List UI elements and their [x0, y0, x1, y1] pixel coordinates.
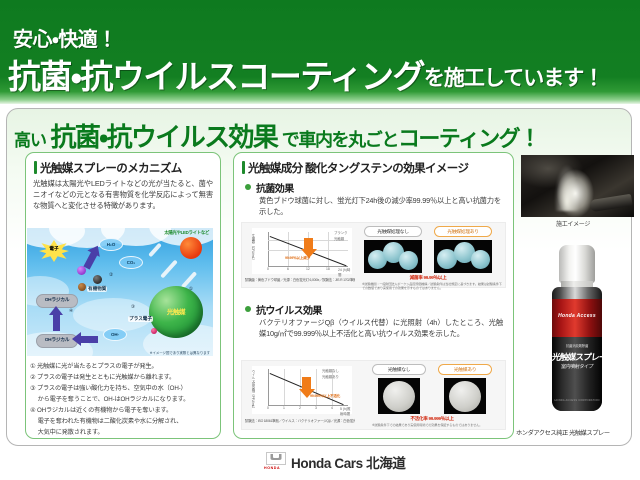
antibacterial-photo-untreated: [364, 240, 422, 273]
footer: HONDA Honda Cars 北海道: [0, 452, 640, 476]
antiviral-heading: 抗ウイルス効果: [245, 302, 322, 317]
mechanism-step: ① 光触媒に光が当たるとプラスの電子が発生。: [30, 362, 210, 372]
antiviral-photo-treated: [444, 378, 486, 414]
antiviral-chart-caption: 試験法：ISO 18061準拠／ウイルス：バクテリオファージQβ／光源：白色蛍光…: [245, 418, 355, 423]
chart2-legend: 光触媒なし: [322, 368, 339, 373]
sub-headline: 高い 抗菌・抗ウイルス効果 で車内を丸ごとコーティング！: [14, 117, 632, 149]
header-title-main: 抗菌・抗ウイルスコーティング: [8, 58, 424, 95]
bottle-caption: ホンダアクセス純正 光触媒スプレー: [516, 428, 610, 437]
spray-nozzle-shape: [589, 194, 632, 212]
diagram-bubble-co2: CO₂: [119, 256, 143, 269]
spray-application-photo: [521, 155, 634, 217]
antiviral-footnote: ※試験条件下での結果であり実使用環境での効果を保証するものではありません。: [372, 423, 498, 430]
mechanism-step: 大気中に発散されます。: [30, 428, 210, 438]
sub-headline-pre: 高い: [14, 131, 46, 150]
diagram-arrow-cycle-up: [53, 314, 60, 331]
diagram-plus-electron-label: プラス電子: [128, 316, 153, 322]
bottle-subtitle-text: 抗菌消臭剤除菌: [552, 343, 602, 348]
antibacterial-chart-ylabel: 生菌数（CFU/mL）: [251, 234, 256, 270]
chart1-tick: 18: [326, 267, 330, 271]
mechanism-step: から電子を奪うことで、OH-はOHラジカルになります。: [30, 395, 210, 405]
antibacterial-body: 黄色ブドウ球菌に対し、蛍光灯下24h後の減少率99.99％以上と高い抗菌力を示し…: [259, 196, 501, 218]
chart2-tick: 1: [283, 406, 285, 410]
diagram-arrow-cycle-left: [81, 336, 98, 343]
chart2-legend: 光触媒あり: [322, 374, 339, 379]
antibacterial-photo-label-treated: 光触媒処理あり: [434, 226, 492, 237]
dealer-name: Honda Cars 北海道: [291, 452, 405, 472]
antiviral-photo-label-treated: 光触媒あり: [438, 364, 492, 375]
chart2-tick: 2: [299, 406, 301, 410]
top-header-banner: 安心・快適！ 抗菌・抗ウイルスコーティングを施工しています！: [0, 0, 640, 104]
photocatalyst-diagram: 太陽光やLEDライトなど 電子 H₂O CO₂ OH- 有機物質 OHラジカル …: [27, 228, 213, 356]
mechanism-step: ② プラスの電子は発生とともに光触媒から離れます。: [30, 373, 210, 383]
antiviral-chart-arrow: [302, 377, 311, 390]
antiviral-photo-untreated: [378, 378, 420, 414]
diagram-catalyst-label: 光触媒: [149, 306, 203, 316]
diagram-top-label: 太陽光やLEDライトなど: [164, 230, 209, 236]
spray-photo-caption: 施工イメージ: [556, 219, 590, 228]
mechanism-panel-title: 光触媒スプレーのメカニズム: [34, 160, 182, 176]
diagram-caption: ※イメージ図であり実際とは異なります: [150, 350, 210, 355]
antiviral-chart-note: 99.999％以上不活化: [310, 394, 340, 399]
antibacterial-footnote: ※試験機関：一般財団法人ボーケン品質評価機構／試験条件は当社規定に基づきます。結…: [362, 282, 502, 290]
antibacterial-chart-note: 99.99％以上減少: [285, 256, 310, 261]
bottle-cap: [559, 245, 595, 283]
antibacterial-photo-treated: [434, 240, 492, 273]
chart1-tick: 12: [306, 267, 310, 271]
antibacterial-photo-label-untreated: 光触媒処理なし: [364, 226, 422, 237]
bottle-type-text: 室内噴射タイプ: [552, 363, 602, 370]
chart1-legend: 光触媒: [334, 236, 344, 241]
diagram-arrow-up: [83, 251, 97, 269]
antiviral-result: 不活化率 99.999％以上: [372, 416, 492, 422]
chart1-tick: 6: [287, 267, 289, 271]
antibacterial-heading: 抗菌効果: [245, 180, 294, 195]
header-line-2: 抗菌・抗ウイルスコーティングを施工しています！: [8, 50, 603, 98]
mist-shape: [554, 163, 580, 211]
antiviral-chart-ylabel: ウイルス感染価（PFU/mL）: [251, 370, 256, 410]
chart2-tick: 0: [267, 406, 269, 410]
antibacterial-chart: 生菌数（CFU/mL） 99.99％以上減少 0 6 12 18 24 (h)時…: [252, 228, 352, 274]
chart2-tick: 4: [331, 406, 333, 410]
sub-headline-mid: で車内を丸ごと: [282, 130, 398, 150]
chart1-legend: ブランク: [334, 230, 348, 235]
bottle-brand-text: Honda Access: [552, 313, 602, 319]
product-bottle: Honda Access 抗菌消臭剤除菌 光触媒スプレー 室内噴射タイプ HON…: [546, 245, 608, 423]
chart1-tick: 24 (h)時間: [338, 267, 352, 277]
sub-headline-emphasis: 抗菌・抗ウイルス効果: [50, 122, 277, 152]
antiviral-body: バクテリオファージQβ（ウイルス代替）に光照射（4h）したところ、光触媒10g/…: [259, 318, 503, 340]
chart2-tick: 5 (h)照射時間: [340, 406, 352, 416]
diagram-oxidation-label: 有機物質: [87, 286, 107, 292]
honda-h-logo-icon: [266, 452, 286, 467]
header-line-1: 安心・快適！: [13, 23, 117, 52]
honda-wordmark: HONDA: [264, 466, 280, 470]
diagram-step-2: ②: [109, 272, 113, 278]
antiviral-photo-label-untreated: 光触媒なし: [372, 364, 426, 375]
header-title-suffix: を施工しています！: [424, 67, 603, 90]
sun-icon: [180, 237, 202, 259]
poster-root: 安心・快適！ 抗菌・抗ウイルスコーティングを施工しています！ 高い 抗菌・抗ウイ…: [0, 0, 640, 480]
diagram-step-3: ③: [131, 304, 135, 310]
mechanism-step: 電子を奪われた有機物は二酸化炭素や水に分解され、: [30, 417, 210, 427]
antibacterial-chart-arrow: [304, 238, 313, 250]
bottle-product-name: 光触媒スプレー: [552, 351, 602, 363]
mechanism-steps: ① 光触媒に光が当たるとプラスの電子が発生。 ② プラスの電子は発生とともに光触…: [30, 362, 210, 439]
effect-panel-title: 光触媒成分 酸化タングステンの効果イメージ: [242, 160, 468, 176]
mechanism-step: ④ OHラジカルは近くの有機物から電子を奪います。: [30, 406, 210, 416]
bottle-body: Honda Access 抗菌消臭剤除菌 光触媒スプレー 室内噴射タイプ HON…: [552, 287, 602, 411]
diagram-bubble-oh: OH-: [103, 328, 127, 341]
bottle-footer-text: HONDA ACCESS CORPORATION: [552, 399, 602, 402]
chart1-tick: 0: [267, 267, 269, 271]
antibacterial-chart-caption: 試験菌：黄色ブドウ球菌／光源：白色蛍光灯 6,000lx／試験法：JIS R 1…: [245, 277, 355, 282]
sub-headline-post: コーティング！: [398, 126, 539, 151]
diagram-step-4: ④: [69, 308, 73, 314]
catalyst-sphere: 光触媒: [149, 286, 203, 338]
antibacterial-result: 減菌率 99.99％以上: [364, 275, 492, 281]
diagram-step-1: ①: [189, 286, 193, 292]
antiviral-chart: ウイルス感染価（PFU/mL） 99.999％以上不活化 0 1 2 3 4 5…: [252, 366, 352, 414]
mechanism-panel-body: 光触媒は太陽光やLEDライトなどの光が当たると、菌やニオイなどの元となる有害物質…: [33, 179, 213, 211]
mechanism-step: ③ プラスの電子は強い酸化力を持ち、空気中の水（OH-）: [30, 384, 210, 394]
chart2-tick: 3: [315, 406, 317, 410]
